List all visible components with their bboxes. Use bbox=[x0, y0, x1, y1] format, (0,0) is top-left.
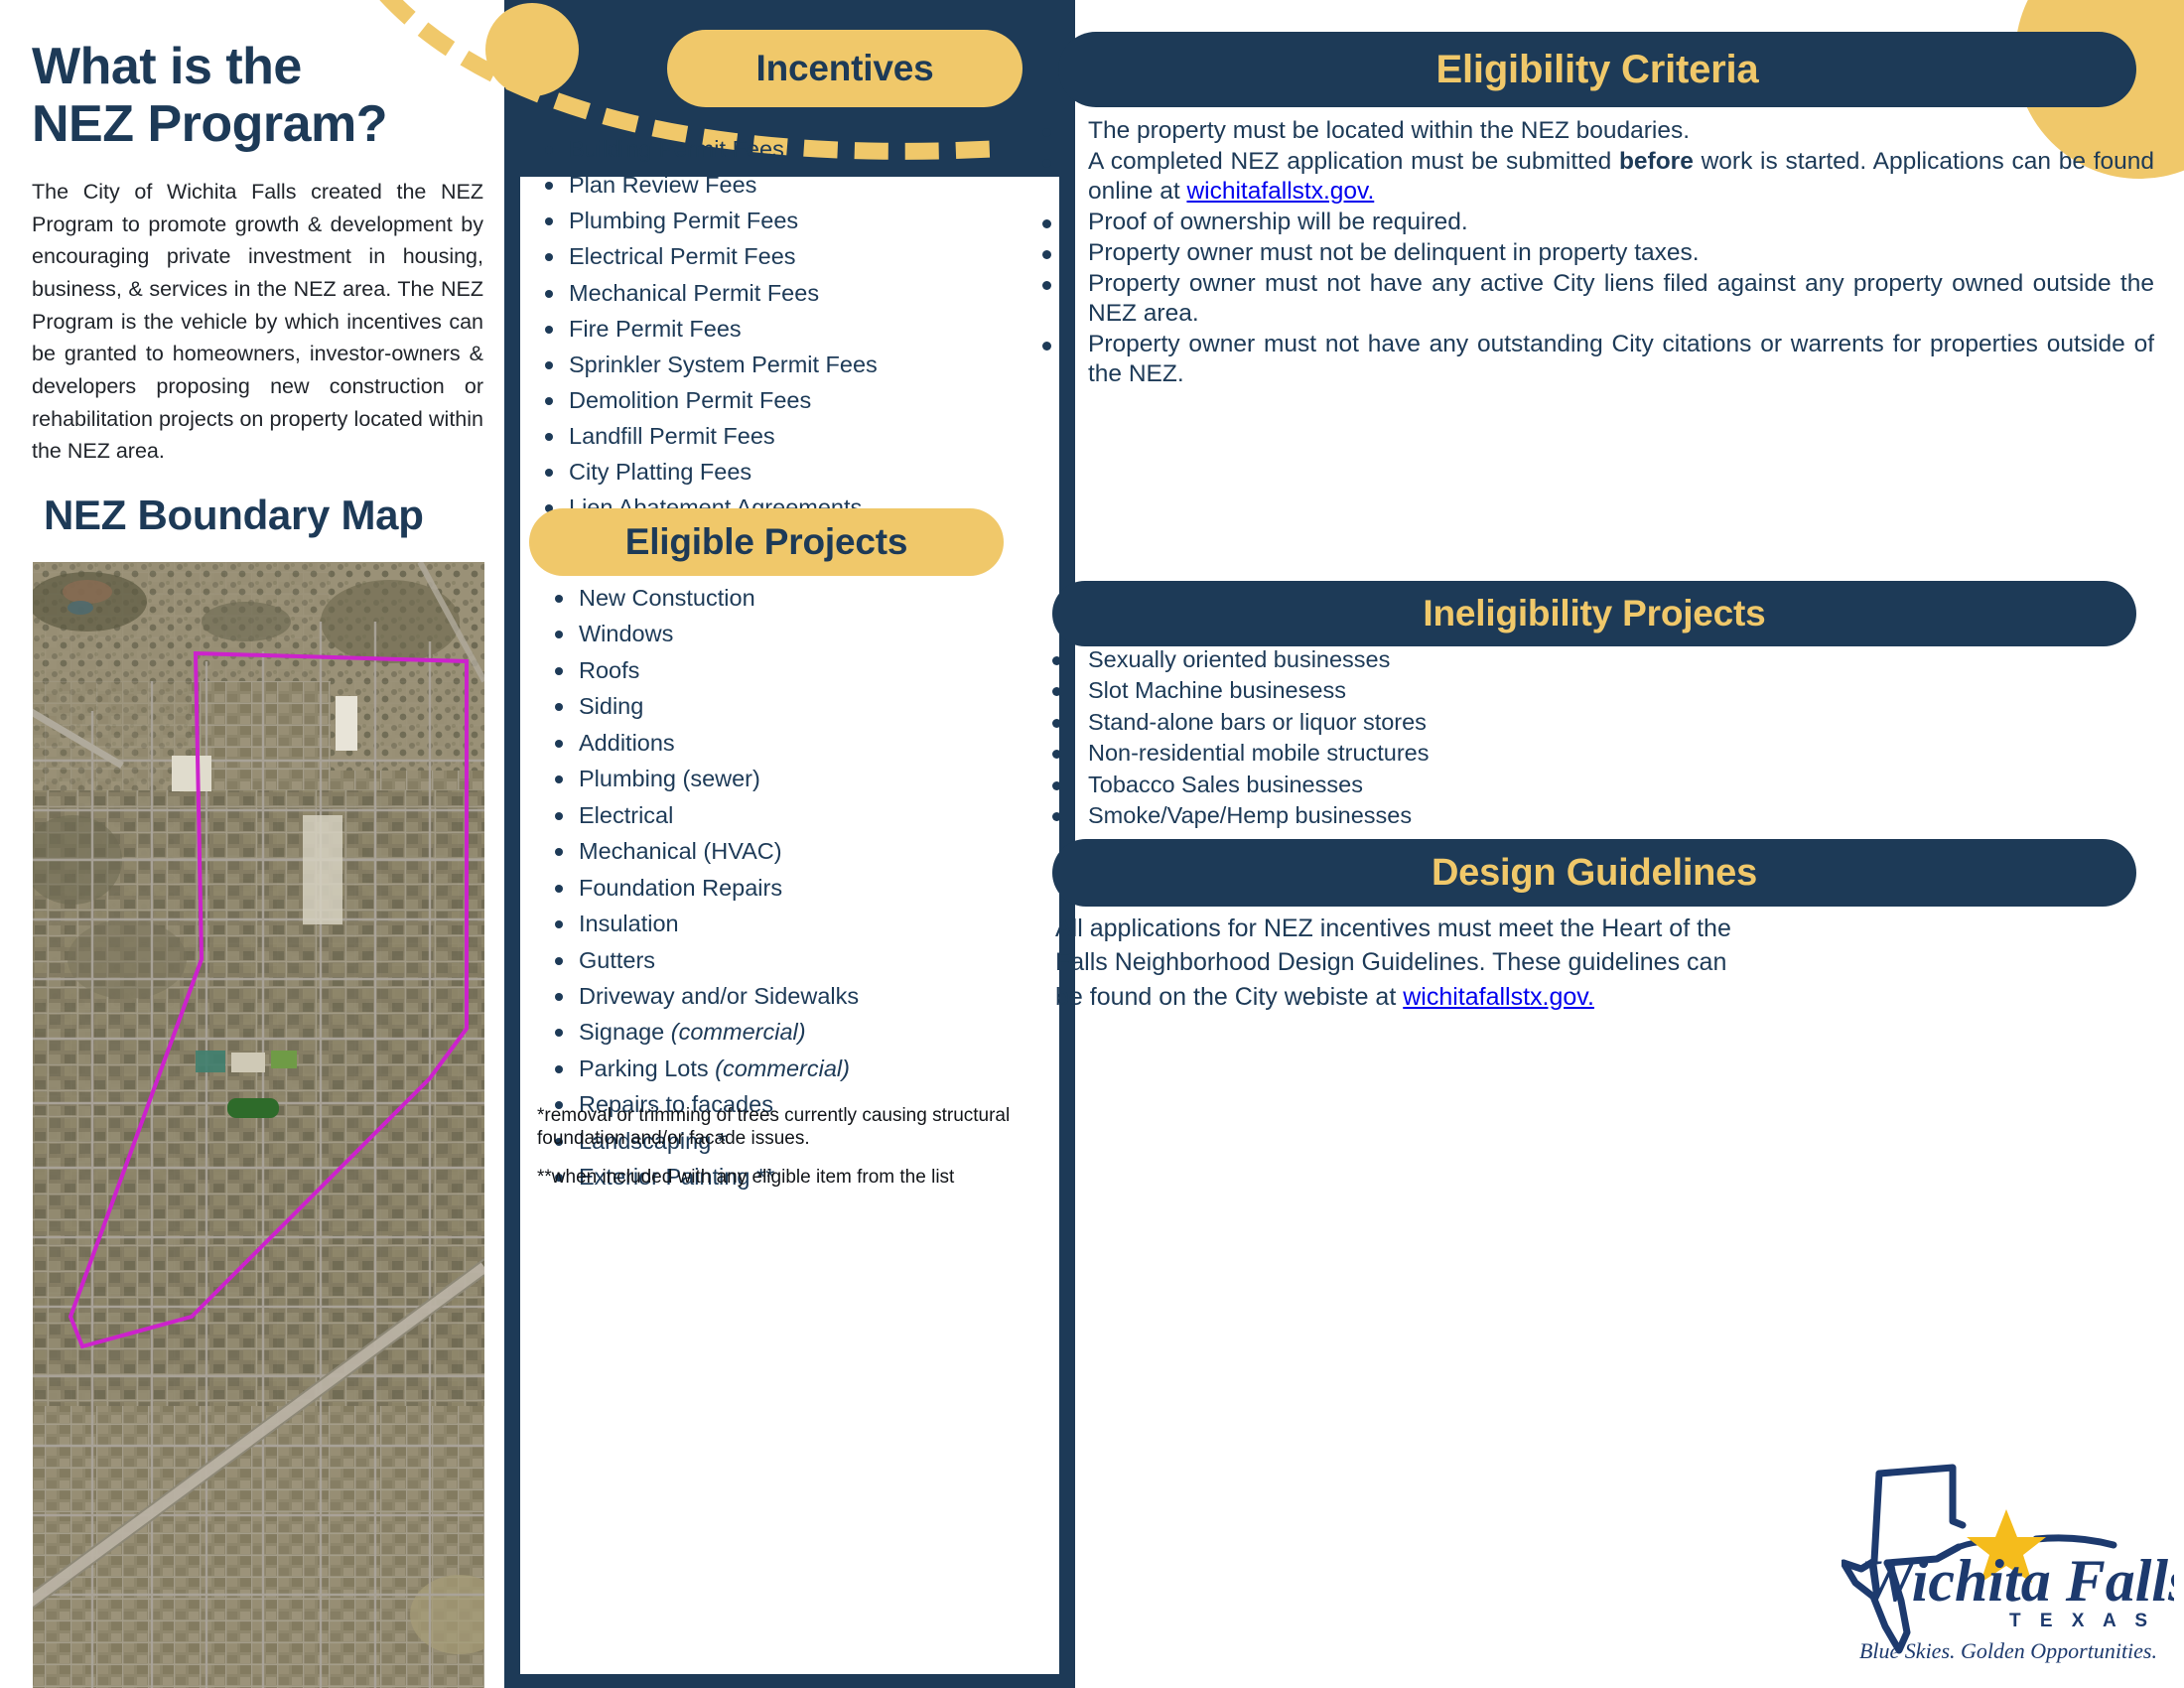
design-guidelines-text: All applications for NEZ incentives must… bbox=[1055, 914, 1731, 1011]
intro-paragraph: The City of Wichita Falls created the NE… bbox=[32, 176, 483, 468]
incentive-item-label: Mechanical Permit Fees bbox=[569, 280, 819, 306]
eligible-project-label: Signage bbox=[579, 1019, 671, 1045]
eligibility-criterion-item: The property must be located within the … bbox=[1032, 116, 2154, 146]
eligible-project-label: Roofs bbox=[579, 657, 639, 683]
eligible-project-item: Signage (commercial) bbox=[551, 1018, 1057, 1048]
eligibility-criterion-item: Property owner must not have any active … bbox=[1032, 269, 2154, 329]
eligible-project-label: Additions bbox=[579, 730, 675, 756]
incentive-item-label: City Platting Fees bbox=[569, 459, 751, 485]
criterion-text: Property owner must not have any outstan… bbox=[1088, 331, 2154, 387]
eligibility-criterion-item: Property owner must not have any outstan… bbox=[1032, 330, 2154, 389]
eligible-project-item: Foundation Repairs bbox=[551, 874, 1057, 904]
eligibility-criteria-heading-pill: Eligibility Criteria bbox=[1058, 32, 2136, 107]
ineligible-project-label: Non-residential mobile structures bbox=[1088, 740, 1430, 766]
incentive-item: Fire Permit Fees bbox=[541, 315, 1057, 345]
eligible-project-label: Parking Lots bbox=[579, 1055, 715, 1081]
footnote-painting: **when included with any eligible item f… bbox=[537, 1166, 1014, 1189]
eligible-project-item: Gutters bbox=[551, 946, 1057, 976]
footnote-landscaping: *removal or trimming of trees currently … bbox=[537, 1104, 1014, 1150]
design-guidelines-link[interactable]: wichitafallstx.gov. bbox=[1403, 983, 1594, 1011]
eligible-project-item: New Constuction bbox=[551, 584, 1057, 614]
incentive-item-label: Plan Review Fees bbox=[569, 172, 756, 198]
criterion-link[interactable]: wichitafallstx.gov. bbox=[1186, 178, 1374, 205]
logo-city-name: Wichita Falls bbox=[1861, 1548, 2174, 1614]
eligible-project-label: New Constuction bbox=[579, 585, 755, 611]
eligible-project-item: Additions bbox=[551, 729, 1057, 759]
criterion-text: The property must be located within the … bbox=[1088, 117, 1690, 144]
eligible-project-item: Windows bbox=[551, 620, 1057, 649]
incentive-item-label: Landfill Permit Fees bbox=[569, 423, 775, 449]
ineligible-project-item: Stand-alone bars or liquor stores bbox=[1042, 708, 2134, 737]
eligible-project-label: Mechanical (HVAC) bbox=[579, 838, 782, 864]
eligible-project-item: Electrical bbox=[551, 801, 1057, 831]
criterion-text: Property owner must not have any active … bbox=[1088, 270, 2154, 327]
ineligible-project-item: Tobacco Sales businesses bbox=[1042, 771, 2134, 799]
eligibility-criteria-heading-label: Eligibility Criteria bbox=[1436, 48, 1759, 92]
eligibility-criteria-list: The property must be located within the … bbox=[1032, 116, 2154, 390]
eligible-projects-heading-label: Eligible Projects bbox=[625, 521, 907, 563]
incentive-item: Demolition Permit Fees bbox=[541, 386, 1057, 416]
ineligible-project-label: Smoke/Vape/Hemp businesses bbox=[1088, 802, 1412, 828]
wichita-falls-logo-mark: Wichita Falls T E X A S Blue Skies. Gold… bbox=[1842, 1452, 2174, 1680]
logo-state-label: T E X A S bbox=[2009, 1611, 2154, 1631]
incentive-item-label: Fire Permit Fees bbox=[569, 316, 742, 342]
eligible-project-item: Insulation bbox=[551, 910, 1057, 939]
ineligibility-projects-heading-pill: Ineligibility Projects bbox=[1052, 581, 2136, 646]
ineligible-project-label: Slot Machine businesess bbox=[1088, 677, 1346, 703]
logo-tagline: Blue Skies. Golden Opportunities. bbox=[1859, 1638, 2157, 1663]
wichita-falls-logo: Wichita Falls T E X A S Blue Skies. Gold… bbox=[1842, 1452, 2174, 1680]
incentive-item: Sprinkler System Permit Fees bbox=[541, 351, 1057, 380]
incentive-item-label: Demolition Permit Fees bbox=[569, 387, 811, 413]
eligible-project-item: Plumbing (sewer) bbox=[551, 765, 1057, 794]
eligible-project-qualifier: (commercial) bbox=[715, 1055, 850, 1081]
nez-boundary-map bbox=[33, 562, 484, 1688]
ineligible-project-label: Stand-alone bars or liquor stores bbox=[1088, 709, 1427, 735]
criterion-text: A completed NEZ application must be subm… bbox=[1088, 148, 1619, 175]
eligible-project-item: Mechanical (HVAC) bbox=[551, 837, 1057, 867]
incentives-list: Building Permit FeesPlan Review FeesPlum… bbox=[541, 135, 1057, 566]
ineligible-project-item: Non-residential mobile structures bbox=[1042, 739, 2134, 768]
gold-circle-decoration bbox=[485, 3, 579, 96]
eligible-project-label: Siding bbox=[579, 693, 643, 719]
eligibility-criterion-item: Property owner must not be delinquent in… bbox=[1032, 238, 2154, 268]
ineligible-project-item: Smoke/Vape/Hemp businesses bbox=[1042, 801, 2134, 830]
eligible-projects-heading-pill: Eligible Projects bbox=[529, 508, 1004, 576]
eligible-project-item: Roofs bbox=[551, 656, 1057, 686]
incentive-item-label: Plumbing Permit Fees bbox=[569, 208, 798, 233]
design-guidelines-paragraph: All applications for NEZ incentives must… bbox=[1055, 912, 1740, 1014]
incentive-item: Electrical Permit Fees bbox=[541, 242, 1057, 272]
incentive-item: City Platting Fees bbox=[541, 458, 1057, 488]
design-guidelines-heading-pill: Design Guidelines bbox=[1052, 839, 2136, 907]
eligible-project-label: Electrical bbox=[579, 802, 673, 828]
criterion-text: Property owner must not be delinquent in… bbox=[1088, 239, 1700, 266]
criterion-emphasis: before bbox=[1619, 148, 1694, 175]
design-guidelines-heading-label: Design Guidelines bbox=[1432, 852, 1757, 895]
incentive-item-label: Sprinkler System Permit Fees bbox=[569, 352, 878, 377]
incentive-item-label: Building Permit Fees bbox=[569, 136, 784, 162]
ineligibility-projects-list: Sexually oriented businessesSlot Machine… bbox=[1042, 645, 2134, 833]
incentive-item: Landfill Permit Fees bbox=[541, 422, 1057, 452]
eligible-project-label: Insulation bbox=[579, 911, 679, 936]
eligibility-criterion-item: A completed NEZ application must be subm… bbox=[1032, 147, 2154, 207]
criterion-text: Proof of ownership will be required. bbox=[1088, 209, 1468, 235]
ineligible-project-label: Sexually oriented businesses bbox=[1088, 646, 1390, 672]
eligible-project-label: Gutters bbox=[579, 947, 655, 973]
ineligible-project-item: Slot Machine businesess bbox=[1042, 676, 2134, 705]
eligible-project-item: Siding bbox=[551, 692, 1057, 722]
incentive-item: Mechanical Permit Fees bbox=[541, 279, 1057, 309]
incentives-heading-label: Incentives bbox=[756, 48, 934, 89]
eligibility-criterion-item: Proof of ownership will be required. bbox=[1032, 208, 2154, 237]
incentive-item: Building Permit Fees bbox=[541, 135, 1057, 165]
incentive-item-label: Electrical Permit Fees bbox=[569, 243, 796, 269]
incentive-item: Plan Review Fees bbox=[541, 171, 1057, 201]
ineligibility-projects-heading-label: Ineligibility Projects bbox=[1423, 593, 1765, 634]
ineligible-project-item: Sexually oriented businesses bbox=[1042, 645, 2134, 674]
eligible-project-label: Driveway and/or Sidewalks bbox=[579, 983, 859, 1009]
ineligible-project-label: Tobacco Sales businesses bbox=[1088, 772, 1363, 797]
eligible-project-label: Foundation Repairs bbox=[579, 875, 782, 901]
eligible-project-item: Parking Lots (commercial) bbox=[551, 1055, 1057, 1084]
map-image bbox=[33, 562, 484, 1688]
eligible-project-qualifier: (commercial) bbox=[671, 1019, 806, 1045]
eligible-project-label: Plumbing (sewer) bbox=[579, 766, 760, 791]
eligible-project-label: Windows bbox=[579, 621, 673, 646]
eligible-project-item: Driveway and/or Sidewalks bbox=[551, 982, 1057, 1012]
incentive-item: Plumbing Permit Fees bbox=[541, 207, 1057, 236]
incentives-heading-pill: Incentives bbox=[667, 30, 1023, 107]
brochure-page: What is the NEZ Program? The City of Wic… bbox=[0, 0, 2184, 1688]
